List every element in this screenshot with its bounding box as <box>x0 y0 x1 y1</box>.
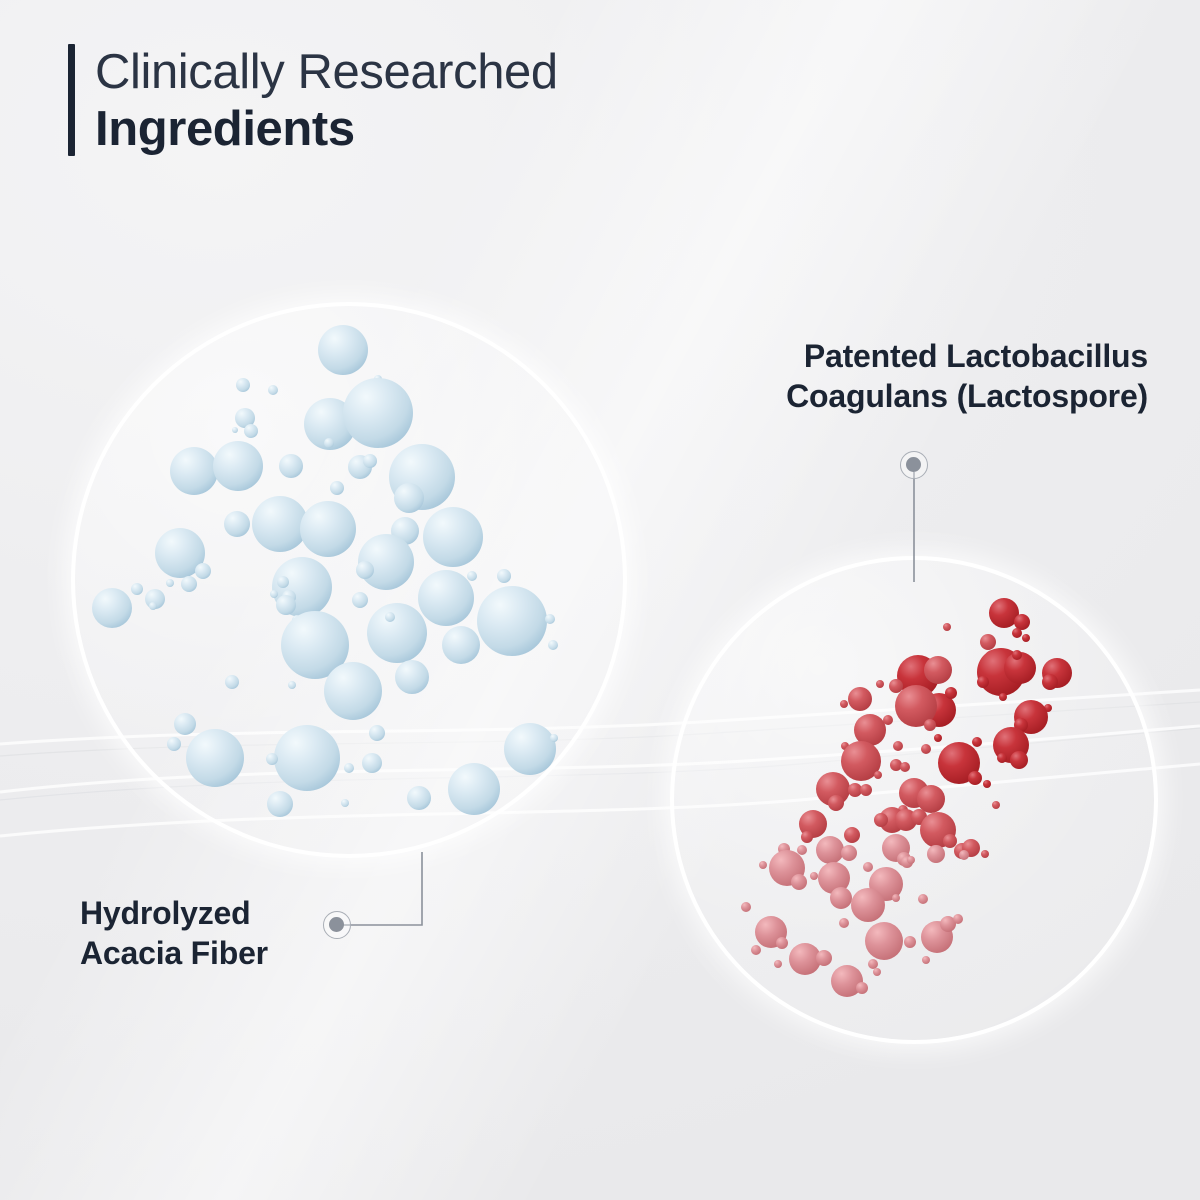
acacia-label-line-one: Hydrolyzed <box>80 893 268 933</box>
acacia-connector-dot-core-icon <box>329 917 344 932</box>
callout-label-acacia-fiber: Hydrolyzed Acacia Fiber <box>80 893 268 973</box>
lactospore-connector-dot-core-icon <box>906 457 921 472</box>
acacia-label-line-two: Acacia Fiber <box>80 933 268 973</box>
page-title: Clinically Researched Ingredients <box>68 44 558 158</box>
lactospore-label-line-one: Patented Lactobacillus <box>786 336 1148 376</box>
title-accent-bar <box>68 44 75 156</box>
infographic-canvas: Clinically Researched Ingredients <box>0 0 1200 1200</box>
bubble-cluster-soft <box>741 834 969 997</box>
callout-label-lactospore: Patented Lactobacillus Coagulans (Lactos… <box>786 336 1148 416</box>
bubble-cluster-mid <box>799 623 1000 859</box>
lactospore-circle <box>674 560 1154 1040</box>
title-line-two: Ingredients <box>95 101 558 158</box>
bubble-cluster <box>92 325 558 835</box>
title-line-one: Clinically Researched <box>95 44 558 101</box>
acacia-fiber-circle <box>75 306 623 854</box>
lactospore-label-line-two: Coagulans (Lactospore) <box>786 376 1148 416</box>
